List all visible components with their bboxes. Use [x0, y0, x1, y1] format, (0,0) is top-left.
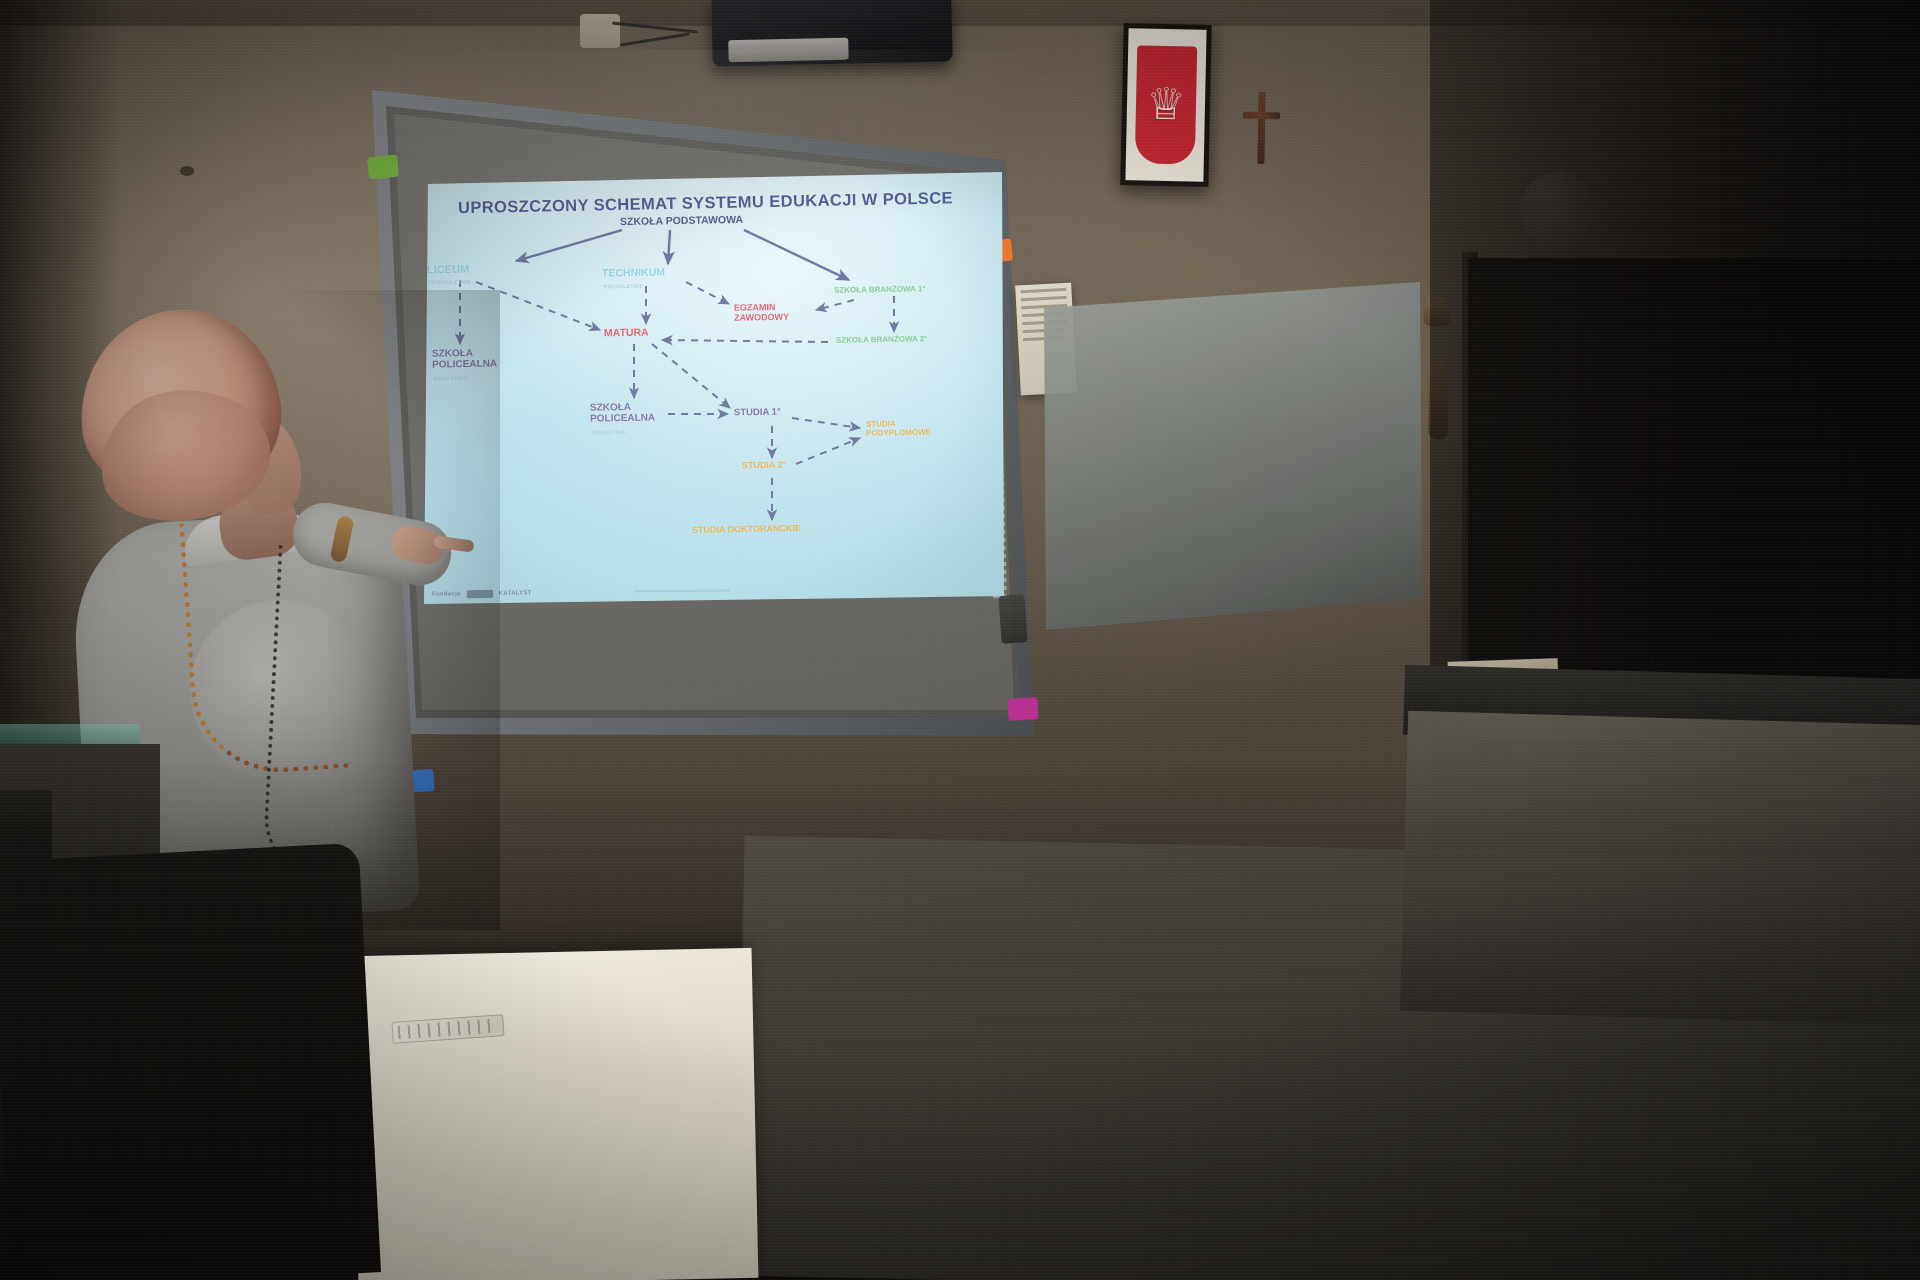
- coat-of-arms-mat: ♕: [1125, 28, 1206, 182]
- note-line: [1021, 296, 1067, 301]
- eagle-icon: ♕: [1146, 83, 1186, 128]
- board-corner-green[interactable]: [367, 154, 399, 179]
- ceiling-projector: [711, 0, 952, 67]
- projected-slide: UPROSZCZONY SCHEMAT SYSTEMU EDUKACJI W P…: [424, 172, 1004, 604]
- side-counter-front: [1400, 711, 1920, 1025]
- classroom-scene: Interwrite DualBoard UPROSZCZONY SCHEMAT…: [0, 0, 1920, 1280]
- wall-socket: [580, 14, 620, 48]
- crucifix-icon: [1257, 92, 1265, 164]
- board-pen-tray[interactable]: [998, 594, 1027, 644]
- whiteboard-edge: [1044, 282, 1422, 630]
- polish-coat-of-arms-frame: ♕: [1120, 23, 1211, 187]
- coat-of-arms-shield: ♕: [1135, 45, 1197, 164]
- left-desk-top: [0, 724, 140, 746]
- projector-lens: [728, 38, 848, 63]
- foreground-table: [352, 948, 759, 1280]
- crucifix-crossbar: [1243, 112, 1280, 120]
- slide-vignette: [424, 172, 1004, 604]
- board-corner-magenta[interactable]: [1007, 697, 1038, 721]
- note-line: [1020, 288, 1066, 293]
- chair-back[interactable]: [0, 843, 381, 1280]
- smoke-detector: [180, 166, 194, 176]
